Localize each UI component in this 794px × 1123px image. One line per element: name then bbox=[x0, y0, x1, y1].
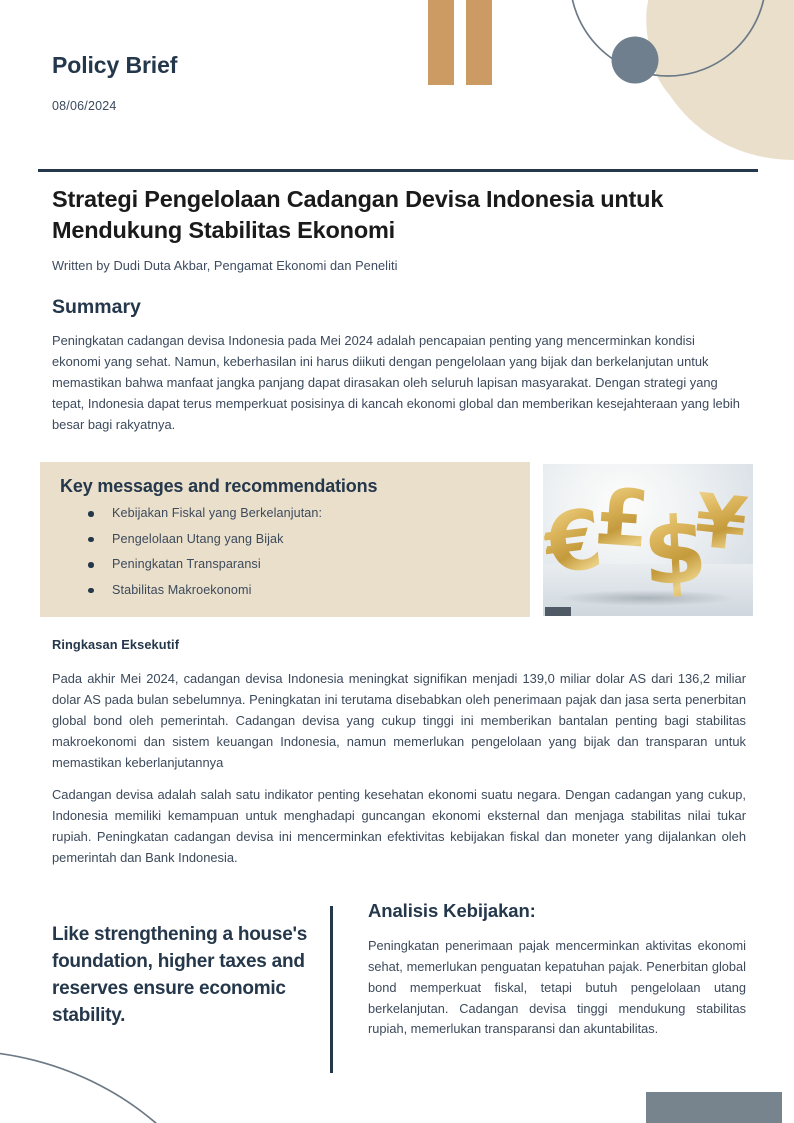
list-item-label: Peningkatan Transparansi bbox=[112, 557, 261, 571]
photo-corner-tag bbox=[545, 607, 571, 616]
key-messages-box: Key messages and recommendations Kebijak… bbox=[40, 462, 530, 617]
header-divider bbox=[38, 169, 758, 172]
key-messages-heading: Key messages and recommendations bbox=[60, 476, 510, 497]
beige-blob-shape bbox=[646, 0, 794, 160]
arc-outline-shape bbox=[0, 1051, 196, 1123]
golden-currency-symbols-photo: € £ $ ¥ bbox=[543, 464, 753, 616]
summary-heading: Summary bbox=[52, 296, 141, 319]
executive-summary-paragraph-1: Pada akhir Mei 2024, cadangan devisa Ind… bbox=[52, 668, 746, 773]
pull-quote: Like strengthening a house's foundation,… bbox=[52, 922, 324, 1030]
yen-symbol-icon: ¥ bbox=[691, 484, 750, 563]
tan-bar-left bbox=[428, 0, 454, 85]
list-item: Stabilitas Makroekonomi bbox=[60, 583, 510, 597]
document-title: Strategi Pengelolaan Cadangan Devisa Ind… bbox=[52, 184, 742, 246]
vertical-divider bbox=[330, 906, 333, 1073]
page-title: Policy Brief bbox=[52, 52, 177, 79]
publication-date: 08/06/2024 bbox=[52, 99, 177, 113]
header: Policy Brief 08/06/2024 bbox=[52, 52, 177, 113]
policy-brief-page: Policy Brief 08/06/2024 Strategi Pengelo… bbox=[0, 0, 794, 1123]
circle-outline-shape bbox=[570, 0, 766, 76]
author-byline: Written by Dudi Duta Akbar, Pengamat Eko… bbox=[52, 258, 397, 273]
analysis-heading: Analisis Kebijakan: bbox=[368, 900, 536, 922]
gray-rect-shape bbox=[646, 1092, 782, 1123]
list-item: Peningkatan Transparansi bbox=[60, 557, 510, 571]
bullet-icon bbox=[88, 511, 94, 517]
list-item: Kebijakan Fiskal yang Berkelanjutan: bbox=[60, 506, 510, 520]
bullet-icon bbox=[88, 562, 94, 568]
analysis-text: Peningkatan penerimaan pajak mencerminka… bbox=[368, 936, 746, 1040]
tan-bar-right bbox=[466, 0, 492, 85]
list-item-label: Kebijakan Fiskal yang Berkelanjutan: bbox=[112, 506, 322, 520]
gray-circle-shape bbox=[612, 37, 659, 84]
executive-summary-paragraph-2: Cadangan devisa adalah salah satu indika… bbox=[52, 784, 746, 868]
bullet-icon bbox=[88, 588, 94, 594]
list-item: Pengelolaan Utang yang Bijak bbox=[60, 532, 510, 546]
executive-summary-heading: Ringkasan Eksekutif bbox=[52, 637, 179, 652]
list-item-label: Pengelolaan Utang yang Bijak bbox=[112, 532, 284, 546]
summary-text: Peningkatan cadangan devisa Indonesia pa… bbox=[52, 330, 746, 435]
list-item-label: Stabilitas Makroekonomi bbox=[112, 583, 252, 597]
key-messages-list: Kebijakan Fiskal yang Berkelanjutan: Pen… bbox=[60, 506, 510, 597]
bullet-icon bbox=[88, 537, 94, 543]
